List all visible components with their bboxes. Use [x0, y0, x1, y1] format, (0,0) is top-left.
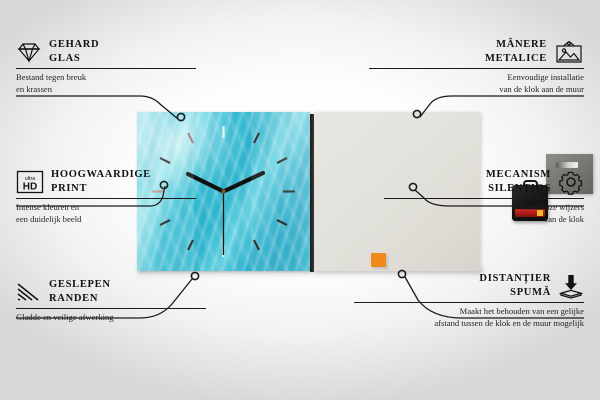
feature-subtitle: Geruisloze wijzers van de klok [384, 202, 584, 225]
title-line-2: SILENȚIOS [486, 182, 551, 196]
title-line-1: GEHARD [49, 38, 99, 52]
title-line-1: DISTANȚIER [479, 272, 551, 286]
title-line-1: GESLEPEN [49, 278, 111, 292]
title-line-2: RANDEN [49, 292, 111, 306]
title-line-2: METALICE [485, 52, 547, 66]
gear-icon [558, 169, 584, 195]
feature-distantier-spuma[interactable]: DISTANȚIER SPUMĂ Maakt het behouden van … [354, 272, 584, 329]
feature-title: GESLEPEN RANDEN [49, 278, 111, 305]
title-line-1: MÂNERE [485, 38, 547, 52]
product-feature-infographic: GEHARD GLAS Bestand tegen breuk en krass… [0, 0, 600, 400]
sub-line-1: Eenvoudige installatie [369, 72, 584, 84]
feature-hoogwaardige-print[interactable]: ultra HD HOOGWAARDIGE PRINT Intense kleu… [16, 168, 196, 225]
title-line-1: MECANISM [486, 168, 551, 182]
feature-header: DISTANȚIER SPUMĂ [354, 272, 584, 299]
feature-header: ultra HD HOOGWAARDIGE PRINT [16, 168, 196, 195]
feature-subtitle: Eenvoudige installatie van de klok aan d… [369, 72, 584, 95]
feature-subtitle: Intense kleuren en een duidelijk beeld [16, 202, 196, 225]
svg-text:HD: HD [23, 181, 37, 192]
feature-subtitle: Bestand tegen breuk en krassen [16, 72, 196, 95]
feature-title: MECANISM SILENȚIOS [486, 168, 551, 195]
feature-manere-metalice[interactable]: MÂNERE METALICE Eenvoudige installatie v… [369, 38, 584, 95]
feature-title: MÂNERE METALICE [485, 38, 547, 65]
sub-line-1: Maakt het behouden van een gelijke [354, 306, 584, 318]
feature-title: GEHARD GLAS [49, 38, 99, 65]
sub-line-2: van de klok [384, 214, 584, 226]
feature-header: MÂNERE METALICE [369, 38, 584, 65]
diagonal-lines-icon [16, 281, 42, 303]
ultra-hd-icon: ultra HD [16, 170, 44, 194]
sub-line-1: Geruisloze wijzers [384, 202, 584, 214]
picture-frame-icon [554, 40, 584, 64]
title-line-2: PRINT [51, 182, 151, 196]
feature-geslepen-randen[interactable]: GESLEPEN RANDEN Gladde en veilige afwerk… [16, 278, 206, 324]
title-line-1: HOOGWAARDIGE [51, 168, 151, 182]
feature-title: HOOGWAARDIGE PRINT [51, 168, 151, 195]
title-line-2: SPUMĂ [479, 286, 551, 300]
feature-header: GEHARD GLAS [16, 38, 196, 65]
sub-line-2: een duidelijk beeld [16, 214, 196, 226]
sub-line-1: Intense kleuren en [16, 202, 196, 214]
foam-spacer [371, 253, 386, 267]
feature-underline [16, 308, 206, 309]
feature-subtitle: Gladde en veilige afwerking [16, 312, 206, 324]
feature-gehard-glas[interactable]: GEHARD GLAS Bestand tegen breuk en krass… [16, 38, 196, 95]
diamond-icon [16, 41, 42, 63]
feature-header: GESLEPEN RANDEN [16, 278, 206, 305]
sub-line-1: Bestand tegen breuk [16, 72, 196, 84]
sub-line-2: afstand tussen de klok en de muur mogeli… [354, 318, 584, 330]
feature-underline [16, 198, 196, 199]
feature-underline [354, 302, 584, 303]
feature-underline [384, 198, 584, 199]
feature-header: MECANISM SILENȚIOS [384, 168, 584, 195]
arrow-down-onto-layer-icon [558, 273, 584, 299]
feature-mecanism-silentios[interactable]: MECANISM SILENȚIOS Geruisloze wijzers va… [384, 168, 584, 225]
feature-subtitle: Maakt het behouden van een gelijke afsta… [354, 306, 584, 329]
feature-underline [16, 68, 196, 69]
sub-line-2: van de klok aan de muur [369, 84, 584, 96]
sub-line-1: Gladde en veilige afwerking [16, 312, 206, 324]
sub-line-2: en krassen [16, 84, 196, 96]
feature-underline [369, 68, 584, 69]
title-line-2: GLAS [49, 52, 99, 66]
feature-title: DISTANȚIER SPUMĂ [479, 272, 551, 299]
